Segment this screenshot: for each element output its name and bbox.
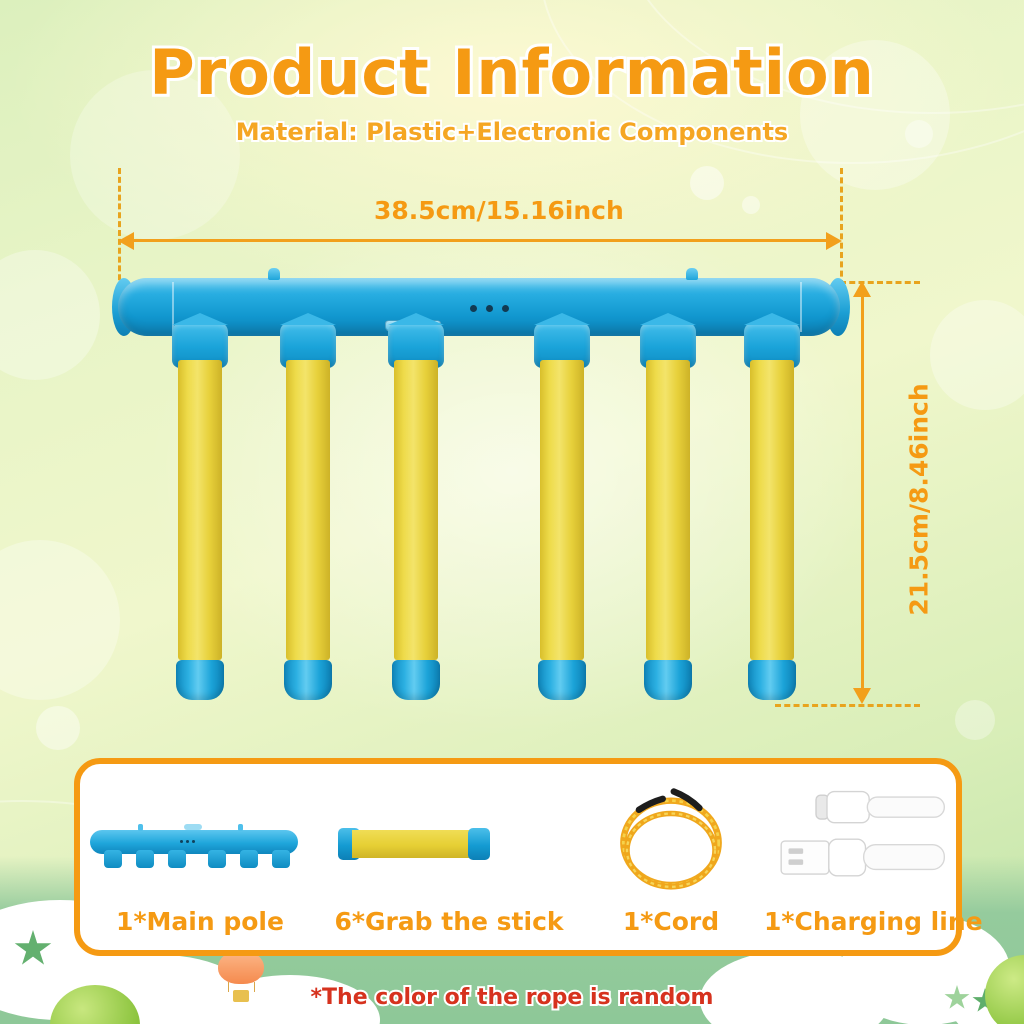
mini-stick-socket bbox=[208, 850, 226, 868]
height-arrow-line bbox=[861, 287, 864, 699]
mini-stick-socket bbox=[104, 850, 122, 868]
material-subtitle: Material: Plastic+Electronic Components bbox=[0, 118, 1024, 146]
mini-stick-socket bbox=[136, 850, 154, 868]
dimension-guide-bottom bbox=[775, 704, 920, 707]
stick-socket bbox=[534, 322, 590, 368]
accessory-item-charging-line: 1*Charging line bbox=[764, 764, 956, 950]
dimension-guide-top bbox=[840, 281, 920, 284]
pole-antenna-nub bbox=[268, 268, 280, 280]
cord-icon bbox=[578, 786, 764, 896]
grab-stick bbox=[540, 360, 584, 660]
height-arrow-head-top bbox=[853, 281, 871, 297]
accessory-label: 6*Grab the stick bbox=[320, 907, 578, 936]
bokeh-circle bbox=[930, 300, 1024, 410]
led-indicator bbox=[192, 840, 195, 843]
mini-stick-socket bbox=[240, 850, 258, 868]
width-dimension-label: 38.5cm/15.16inch bbox=[374, 196, 624, 225]
grab-stick bbox=[394, 360, 438, 660]
main-pole-icon bbox=[80, 786, 320, 896]
grab-stick bbox=[750, 360, 794, 660]
led-indicator bbox=[180, 840, 183, 843]
bokeh-circle bbox=[955, 700, 995, 740]
accessory-label: 1*Charging line bbox=[764, 907, 956, 936]
width-arrow-head-left bbox=[118, 232, 134, 250]
grab-stick-end-cap bbox=[468, 828, 490, 860]
led-indicator bbox=[502, 305, 509, 312]
grab-stick-bottom-cap bbox=[392, 660, 440, 700]
product-information-infographic: Product Information Material: Plastic+El… bbox=[0, 0, 1024, 1024]
mini-stick-socket bbox=[272, 850, 290, 868]
led-indicator bbox=[486, 305, 493, 312]
page-title: Product Information bbox=[0, 36, 1024, 109]
accessory-label: 1*Cord bbox=[578, 907, 764, 936]
bokeh-circle bbox=[36, 706, 80, 750]
height-arrow-head-bottom bbox=[853, 688, 871, 704]
accessories-box: 1*Main pole 6*Grab the stick bbox=[74, 758, 962, 956]
pole-end-cap-left bbox=[112, 278, 136, 336]
rope-color-footnote: *The color of the rope is random bbox=[0, 985, 1024, 1010]
accessory-label: 1*Main pole bbox=[80, 907, 320, 936]
mini-pole-nub bbox=[238, 824, 243, 831]
grab-stick-body bbox=[352, 830, 474, 858]
pole-seam bbox=[800, 282, 802, 332]
pole-antenna-nub bbox=[686, 268, 698, 280]
main-pole-body bbox=[118, 278, 840, 336]
grab-stick-bottom-cap bbox=[284, 660, 332, 700]
stick-socket bbox=[172, 322, 228, 368]
stick-socket bbox=[388, 322, 444, 368]
grab-stick-bottom-cap bbox=[748, 660, 796, 700]
stick-socket bbox=[280, 322, 336, 368]
pole-end-cap-right bbox=[826, 278, 850, 336]
grab-stick-bottom-cap bbox=[176, 660, 224, 700]
mini-pole-switch bbox=[184, 824, 202, 830]
grab-stick bbox=[178, 360, 222, 660]
grab-stick-bottom-cap bbox=[538, 660, 586, 700]
accessory-item-cord: 1*Cord bbox=[578, 764, 764, 950]
bokeh-circle bbox=[742, 196, 760, 214]
grab-stick bbox=[646, 360, 690, 660]
mini-pole-nub bbox=[138, 824, 143, 831]
width-arrow-line bbox=[124, 239, 838, 242]
grab-stick bbox=[286, 360, 330, 660]
height-dimension-label: 21.5cm/8.46inch bbox=[905, 383, 934, 615]
stick-socket bbox=[744, 322, 800, 368]
cord-svg bbox=[578, 786, 764, 896]
accessory-item-grab-stick: 6*Grab the stick bbox=[320, 764, 578, 950]
stick-socket bbox=[640, 322, 696, 368]
dimension-guide-right bbox=[840, 168, 843, 286]
pole-switch bbox=[385, 320, 441, 331]
accessory-item-main-pole: 1*Main pole bbox=[80, 764, 320, 950]
grab-stick-icon bbox=[320, 786, 578, 896]
grab-stick-bottom-cap bbox=[644, 660, 692, 700]
width-arrow-head-right bbox=[826, 232, 842, 250]
led-indicator bbox=[470, 305, 477, 312]
pole-seam bbox=[172, 282, 174, 332]
bokeh-circle bbox=[690, 166, 724, 200]
led-indicator bbox=[186, 840, 189, 843]
charging-line-icon bbox=[764, 786, 956, 896]
bokeh-circle bbox=[0, 540, 120, 700]
bokeh-circle bbox=[0, 250, 100, 380]
mini-stick-socket bbox=[168, 850, 186, 868]
usb-cable-svg bbox=[764, 786, 956, 896]
